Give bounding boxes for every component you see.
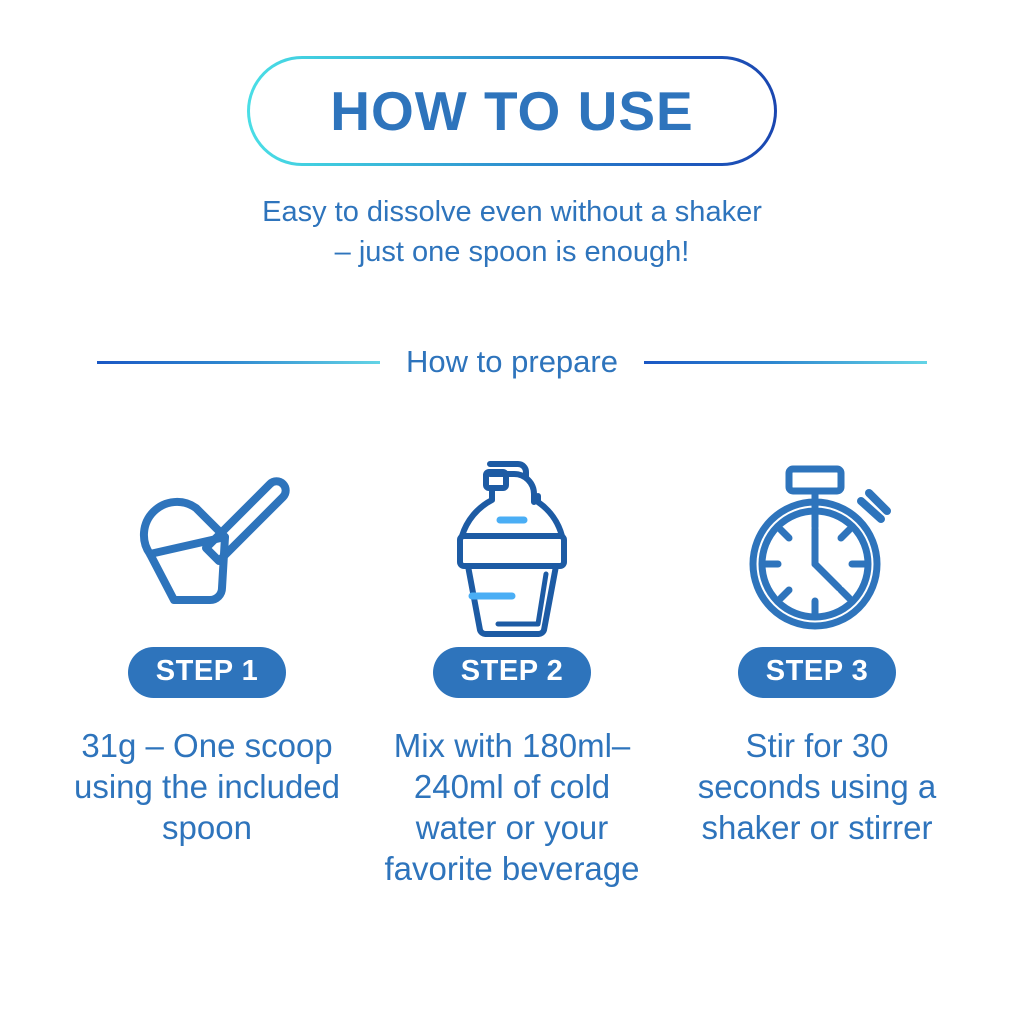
shaker-bottle-icon xyxy=(442,452,582,637)
step-column-3: STEP 3 Stir for 30 seconds using a shake… xyxy=(665,452,970,848)
step-text-3: Stir for 30 seconds using a shaker or st… xyxy=(682,725,952,848)
divider-line-left xyxy=(97,361,380,364)
step-badge-3: STEP 3 xyxy=(738,647,896,698)
step-text-1: 31g – One scoop using the included spoon xyxy=(72,725,342,848)
step-column-1: STEP 1 31g – One scoop using the include… xyxy=(55,452,360,848)
step-badge-2: STEP 2 xyxy=(433,647,591,698)
infographic-page: HOW TO USE Easy to dissolve even without… xyxy=(0,0,1024,1024)
title-pill-border: HOW TO USE xyxy=(247,56,777,166)
step-column-2: STEP 2 Mix with 180ml–240ml of cold wate… xyxy=(360,452,665,889)
page-title: HOW TO USE xyxy=(330,79,693,143)
divider-line-right xyxy=(644,361,927,364)
subtitle-line-2: – just one spoon is enough! xyxy=(0,232,1024,272)
subtitle-line-1: Easy to dissolve even without a shaker xyxy=(0,192,1024,232)
steps-row: STEP 1 31g – One scoop using the include… xyxy=(0,452,1024,889)
title-pill-inner: HOW TO USE xyxy=(250,59,774,163)
title-section: HOW TO USE xyxy=(0,56,1024,166)
stopwatch-icon xyxy=(735,452,900,637)
section-divider: How to prepare xyxy=(97,344,927,380)
step-badge-1: STEP 1 xyxy=(128,647,286,698)
step-text-2: Mix with 180ml–240ml of cold water or yo… xyxy=(377,725,647,889)
scoop-icon xyxy=(112,452,302,637)
divider-label: How to prepare xyxy=(402,344,622,380)
subtitle: Easy to dissolve even without a shaker –… xyxy=(0,192,1024,272)
